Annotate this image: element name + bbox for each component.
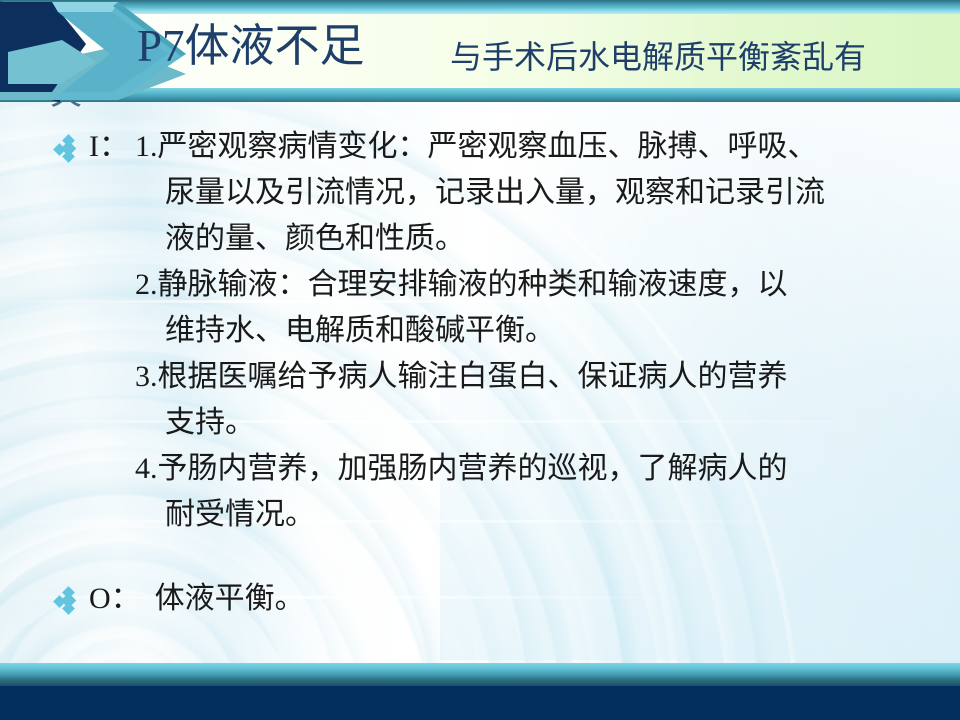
slide-body: I： 1.严密观察病情变化：严密观察血压、脉搏、呼吸、 尿量以及引流情况，记录出… bbox=[0, 104, 960, 664]
presentation-slide: 关 P7体液不足 与手 bbox=[0, 0, 960, 720]
diamond-cluster-bullet-icon bbox=[55, 588, 81, 614]
group-o-text: 体液平衡。 bbox=[155, 576, 305, 622]
list-item-3-number: 3. bbox=[135, 360, 158, 393]
list-item-4-line-1: 4.予肠内营养，加强肠内营养的巡视，了解病人的 bbox=[135, 446, 788, 492]
list-item-2-line-2: 维持水、电解质和酸碱平衡。 bbox=[135, 308, 788, 354]
list-item-1-line-3: 液的量、颜色和性质。 bbox=[135, 216, 825, 262]
list-item-1-line-1: 1.严密观察病情变化：严密观察血压、脉搏、呼吸、 bbox=[135, 124, 825, 170]
group-label-o: O： bbox=[89, 576, 141, 622]
page-title: P7体液不足 bbox=[137, 18, 365, 74]
list-item-3-text-1: 根据医嘱给予病人输注白蛋白、保证病人的营养 bbox=[158, 360, 788, 393]
list-item-1: 1.严密观察病情变化：严密观察血压、脉搏、呼吸、 尿量以及引流情况，记录出入量，… bbox=[135, 124, 825, 262]
group-label-i: I： bbox=[89, 124, 129, 170]
list-item-3-line-1: 3.根据医嘱给予病人输注白蛋白、保证病人的营养 bbox=[135, 354, 788, 400]
list-item-2-text-1: 静脉输液：合理安排输液的种类和输液速度，以 bbox=[158, 268, 788, 301]
list-item-2: 2.静脉输液：合理安排输液的种类和输液速度，以 维持水、电解质和酸碱平衡。 bbox=[135, 262, 788, 354]
page-subtitle: 与手术后水电解质平衡紊乱有 bbox=[450, 36, 866, 78]
list-item-4-line-2: 耐受情况。 bbox=[135, 492, 788, 538]
slide-header: P7体液不足 与手术后水电解质平衡紊乱有 bbox=[0, 0, 960, 102]
list-item-4-number: 4. bbox=[135, 452, 158, 485]
diamond-cluster-bullet-icon bbox=[55, 136, 81, 162]
list-item-2-line-1: 2.静脉输液：合理安排输液的种类和输液速度，以 bbox=[135, 262, 788, 308]
list-item-3: 3.根据医嘱给予病人输注白蛋白、保证病人的营养 支持。 bbox=[135, 354, 788, 446]
list-item-2-number: 2. bbox=[135, 268, 158, 301]
footer-gradient-bar bbox=[0, 663, 960, 686]
list-item-4-text-1: 予肠内营养，加强肠内营养的巡视，了解病人的 bbox=[158, 452, 788, 485]
list-item-1-number: 1. bbox=[135, 130, 158, 163]
bullet-group-i: I： bbox=[55, 124, 129, 170]
list-item-3-line-2: 支持。 bbox=[135, 400, 788, 446]
list-item-1-text-1: 严密观察病情变化：严密观察血压、脉搏、呼吸、 bbox=[158, 130, 818, 163]
list-item-1-line-2: 尿量以及引流情况，记录出入量，观察和记录引流 bbox=[135, 170, 825, 216]
bullet-group-o: O： 体液平衡。 bbox=[55, 576, 305, 622]
list-item-4: 4.予肠内营养，加强肠内营养的巡视，了解病人的 耐受情况。 bbox=[135, 446, 788, 538]
footer-navy-bar bbox=[0, 686, 960, 720]
